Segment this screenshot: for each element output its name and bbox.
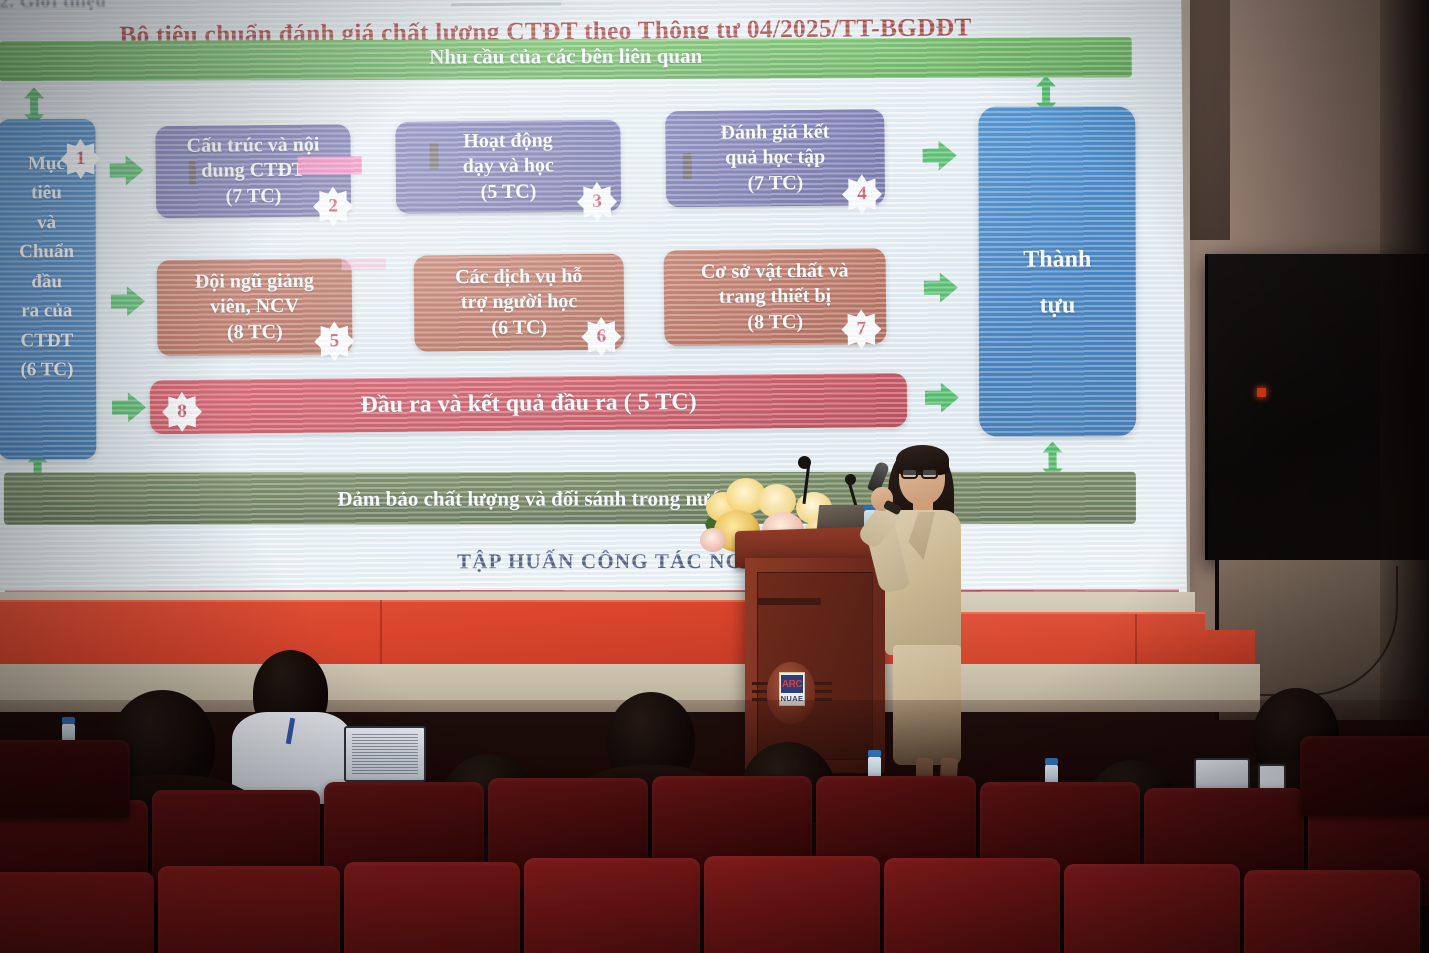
arrow-right-icon [925,382,959,412]
slide-cutoff-heading: 2. Giới thiệu [0,0,299,14]
card-3-line-2: dạy và học [463,154,554,180]
auditorium-seat [1064,864,1240,953]
arrow-right-icon [112,392,146,422]
wall-dark-strip [1190,0,1230,240]
card-6-line-2: trợ người học [455,289,582,316]
card-3-line-1: Hoạt động [462,128,553,154]
auditorium-seat [1244,870,1420,953]
goal-line-8: (6 TC) [0,355,96,385]
card-2-line-1: Cấu trúc và nội [186,132,319,159]
card-5-line-1: Đội ngũ giảng [195,268,314,295]
achievement-line-2: tựu [979,283,1136,329]
auditorium-seat [0,872,154,953]
achievement-label: Thành tựu [979,237,1136,329]
auditorium-seat [704,856,880,953]
auditorium-seat [884,858,1060,953]
card-7-line-3: (8 TC) [701,309,849,336]
stakeholder-needs-label: Nhu cầu của các bên liên quan [0,42,1132,78]
goal-line-4: Chuẩn [0,237,96,267]
auditorium-seat [344,862,520,953]
podium-logo-icon: ARC [781,675,803,693]
card-6-line-3: (6 TC) [456,315,583,342]
auditorium-seat [1300,736,1429,816]
presenter-glasses-right [921,468,938,479]
card-6-line-1: Các dịch vụ hỗ [455,264,582,291]
auditorium-seat [158,866,340,953]
pointer-smudge [189,161,196,185]
goal-line-5: đầu [0,267,96,297]
goal-and-outcome-label: Mục tiêu và Chuẩn đầu ra của CTĐT (6 TC) [0,149,96,385]
highlight-marker-secondary [342,258,386,270]
stage-seam [1135,614,1137,670]
slide-content: 2. Giới thiệu Bộ tiêu chuẩn đánh giá chấ… [0,0,1187,608]
projection-screen: 2. Giới thiệu Bộ tiêu chuẩn đánh giá chấ… [0,0,1187,608]
card-7-line-1: Cơ sở vật chất và [701,258,849,285]
card-4-line-3: (7 TC) [721,170,830,197]
auditorium-seat [524,858,700,953]
arrow-right-icon [923,140,957,170]
auditorium-seat [0,740,130,818]
card-5-line-3: (8 TC) [195,319,314,346]
slide-footer-text: TẬP HUẤN CÔNG TÁC NG TRÌNH ĐÀO TẠO [247,549,1147,575]
slide-cutoff-underline [451,2,561,6]
goal-line-6: ra của [0,296,96,326]
stage-seam [380,600,382,670]
goal-line-2: tiêu [0,179,96,209]
arrow-right-icon [110,155,144,185]
card-4-line-1: Đánh giá kết [720,119,829,146]
arrow-right-icon [924,272,958,302]
pointer-smudge [683,153,692,179]
laptop-screen-text [352,734,418,774]
presenter-glasses-left [901,468,918,479]
card-3-line-3: (5 TC) [463,179,554,205]
pointer-smudge [430,143,439,169]
arrow-right-icon [111,286,145,316]
goal-line-7: CTĐT [0,326,96,356]
podium-trim [757,598,821,605]
card-7-line-2: trang thiết bị [701,284,849,311]
card-2-line-3: (7 TC) [187,183,320,210]
monitor-standby-led-icon [1257,388,1266,397]
presenter-glasses-bridge [918,472,922,474]
criterion-card-8: Đầu ra và kết quả đầu ra ( 5 TC) [150,373,907,434]
achievement-line-1: Thành [979,237,1136,283]
card-5-line-2: viên, NCV [195,294,314,321]
card-8-line-1: Đầu ra và kết quả đầu ra ( 5 TC) [360,387,697,421]
goal-line-3: và [0,208,96,238]
presentation-photo-scene: 2. Giới thiệu Bộ tiêu chuẩn đánh giá chấ… [0,0,1429,953]
card-4-line-2: quả học tập [721,145,830,172]
highlight-marker [298,156,362,174]
attendee-laptop [344,726,426,782]
